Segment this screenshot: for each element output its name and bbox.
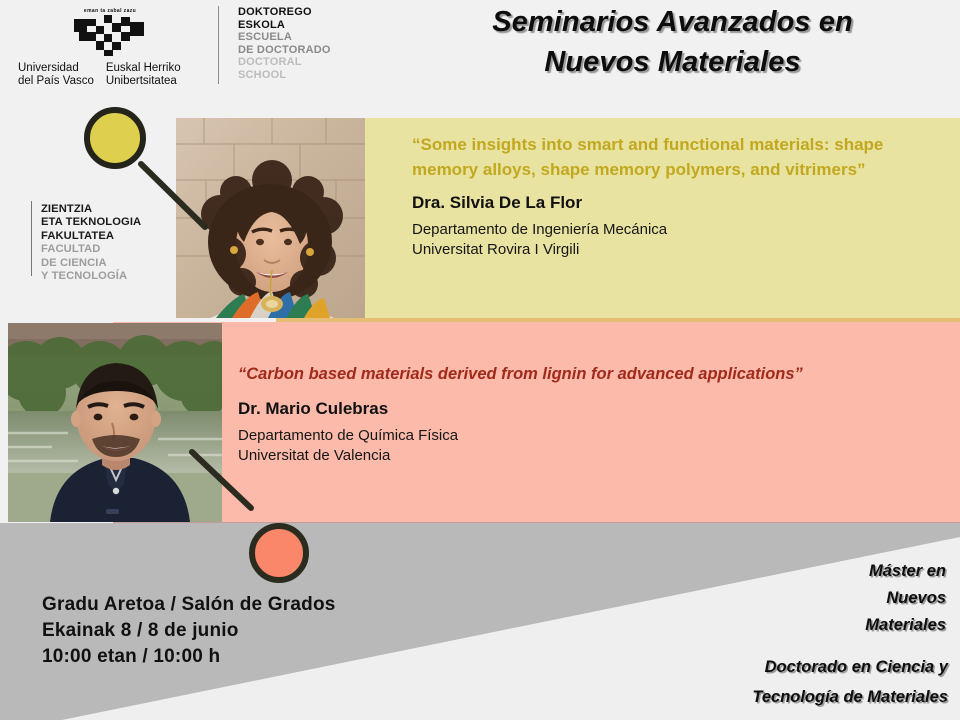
faculty-logo: ZIENTZIA ETA TEKNOLOGIA FAKULTATEA FACUL… <box>41 203 141 283</box>
upv-name-eu-l1: Euskal Herriko <box>106 62 181 75</box>
page-title: Seminarios Avanzados en Nuevos Materiale… <box>400 2 945 82</box>
header-logos: eman ta zabal zazu <box>0 0 400 110</box>
page-title-line2: Nuevos Materiales <box>400 42 945 82</box>
doctoral-school-en-l2: SCHOOL <box>238 69 331 82</box>
talk-1-text: “Some insights into smart and functional… <box>412 132 912 260</box>
doctoral-school-es-l1: ESCUELA <box>238 31 331 44</box>
venue-date: Ekainak 8 / 8 de junio <box>42 618 336 644</box>
venue-time: 10:00 etan / 10:00 h <box>42 644 336 670</box>
upv-name-es-l2: del País Vasco <box>18 75 94 88</box>
program-master-l3: Materiales <box>600 612 946 639</box>
talk-1-title: “Some insights into smart and functional… <box>412 132 912 182</box>
faculty-es-l1: FACULTAD <box>41 243 141 256</box>
program-doctorate-l2: Tecnología de Materiales <box>600 682 948 712</box>
upv-ehu-emblem-icon <box>70 15 150 59</box>
page-title-line1: Seminarios Avanzados en <box>400 2 945 42</box>
upv-name-eu-l2: Unibertsitatea <box>106 75 181 88</box>
speaker-photo-2 <box>8 323 222 522</box>
upv-name-es-l1: Universidad <box>18 62 94 75</box>
talk-1-speaker: Dra. Silvia De La Flor <box>412 193 912 213</box>
seminar-poster: eman ta zabal zazu <box>0 0 960 720</box>
faculty-es-l3: Y TECNOLOGÍA <box>41 270 141 283</box>
header-divider <box>218 6 219 84</box>
upv-ehu-name: Universidad del País Vasco Euskal Herrik… <box>18 62 197 88</box>
program-master: Máster en Nuevos Materiales <box>600 558 946 639</box>
pin-circle-1 <box>87 110 143 166</box>
talk-2-speaker: Dr. Mario Culebras <box>238 399 928 419</box>
talk-1-institution: Universitat Rovira I Virgili <box>412 240 912 260</box>
doctoral-school-eu-l1: DOKTOREGO <box>238 6 331 19</box>
talk-2-text: “Carbon based materials derived from lig… <box>238 362 928 466</box>
talk-2-title: “Carbon based materials derived from lig… <box>238 362 928 387</box>
talk-2-institution: Universitat de Valencia <box>238 446 928 466</box>
faculty-es-l2: DE CIENCIA <box>41 257 141 270</box>
doctoral-school-logo: DOKTOREGO ESKOLA ESCUELA DE DOCTORADO DO… <box>238 6 331 82</box>
program-doctorate: Doctorado en Ciencia y Tecnología de Mat… <box>600 652 948 712</box>
program-master-l1: Máster en <box>600 558 946 585</box>
venue-info: Gradu Aretoa / Salón de Grados Ekainak 8… <box>42 592 336 670</box>
faculty-divider <box>31 201 32 276</box>
doctoral-school-en-l1: DOCTORAL <box>238 56 331 69</box>
doctoral-school-es-l2: DE DOCTORADO <box>238 44 331 57</box>
upv-ehu-motto: eman ta zabal zazu <box>70 8 150 14</box>
venue-room: Gradu Aretoa / Salón de Grados <box>42 592 336 618</box>
program-doctorate-l1: Doctorado en Ciencia y <box>600 652 948 682</box>
talk-1-department: Departamento de Ingeniería Mecánica <box>412 220 912 240</box>
faculty-eu-l1: ZIENTZIA <box>41 203 141 216</box>
speaker-photo-1 <box>176 118 365 318</box>
upv-ehu-logo: eman ta zabal zazu <box>12 8 197 88</box>
doctoral-school-eu-l2: ESKOLA <box>238 19 331 32</box>
program-master-l2: Nuevos <box>600 585 946 612</box>
talk-2-department: Departamento de Química Física <box>238 426 928 446</box>
faculty-eu-l3: FAKULTATEA <box>41 230 141 243</box>
faculty-eu-l2: ETA TEKNOLOGIA <box>41 216 141 229</box>
